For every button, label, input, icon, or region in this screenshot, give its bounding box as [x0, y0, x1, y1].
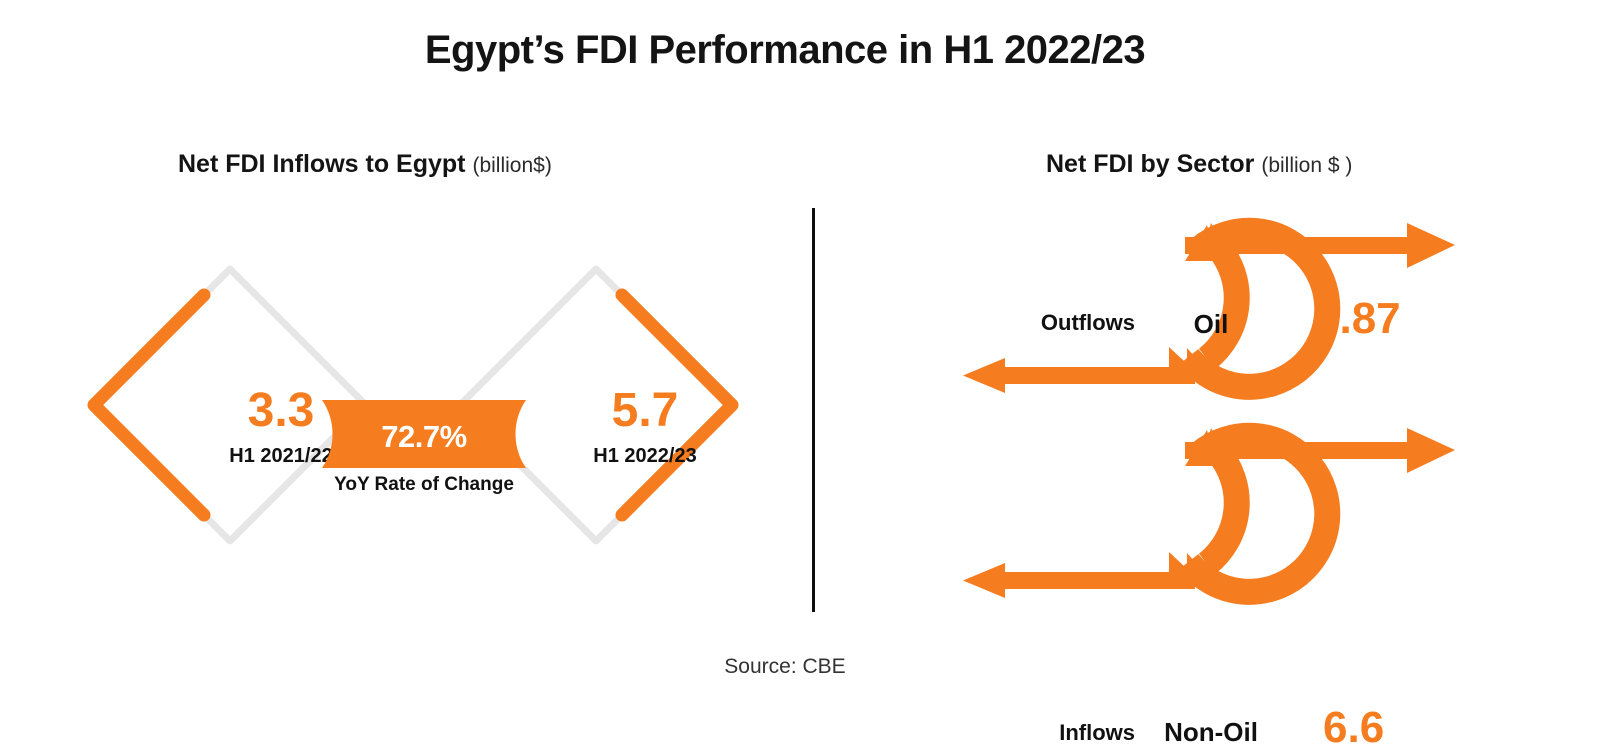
- sector-value-oil: 0.87: [1315, 294, 1401, 344]
- right-chart-heading-text: Net FDI by Sector: [1046, 150, 1254, 178]
- infographic-canvas: Egypt’s FDI Performance in H1 2022/23 Ne…: [0, 0, 1600, 720]
- left-arrow-oil: [963, 358, 1195, 393]
- yoy-change-caption: YoY Rate of Change: [314, 474, 534, 496]
- right-chart-heading: Net FDI by Sector (billion $ ): [1046, 150, 1352, 179]
- panel-divider: [812, 208, 815, 612]
- left-chart-heading: Net FDI Inflows to Egypt (billion$): [178, 150, 552, 179]
- left-chart-heading-unit: (billion$): [472, 154, 551, 177]
- left-chart-heading-text: Net FDI Inflows to Egypt: [178, 150, 466, 178]
- value-current-period: 5.7: [560, 383, 730, 438]
- sector-name-non-oil: Non-Oil: [1111, 717, 1311, 748]
- left-arrow-non-oil: [963, 563, 1195, 598]
- sector-value-non-oil: 6.6: [1323, 703, 1384, 753]
- yoy-change-ribbon: 72.7% YoY Rate of Change: [314, 398, 534, 508]
- label-current-period: H1 2022/23: [540, 445, 750, 468]
- source-note: Source: CBE: [0, 655, 1570, 679]
- right-chart-heading-unit: (billion $ ): [1261, 154, 1352, 177]
- yoy-change-value: 72.7%: [314, 419, 534, 455]
- page-title: Egypt’s FDI Performance in H1 2022/23: [0, 28, 1570, 73]
- net-fdi-inflows-chart: 3.3 H1 2021/22 5.7 H1 2022/23 72.7% YoY …: [60, 255, 790, 615]
- net-fdi-by-sector-chart: Outflows Oil 0.87: [955, 215, 1475, 635]
- cycle-arrow-diagram-non-oil: [955, 420, 1475, 620]
- diamond-orange-chevron-left: [94, 295, 204, 515]
- sector-name-oil: Oil: [1111, 309, 1311, 340]
